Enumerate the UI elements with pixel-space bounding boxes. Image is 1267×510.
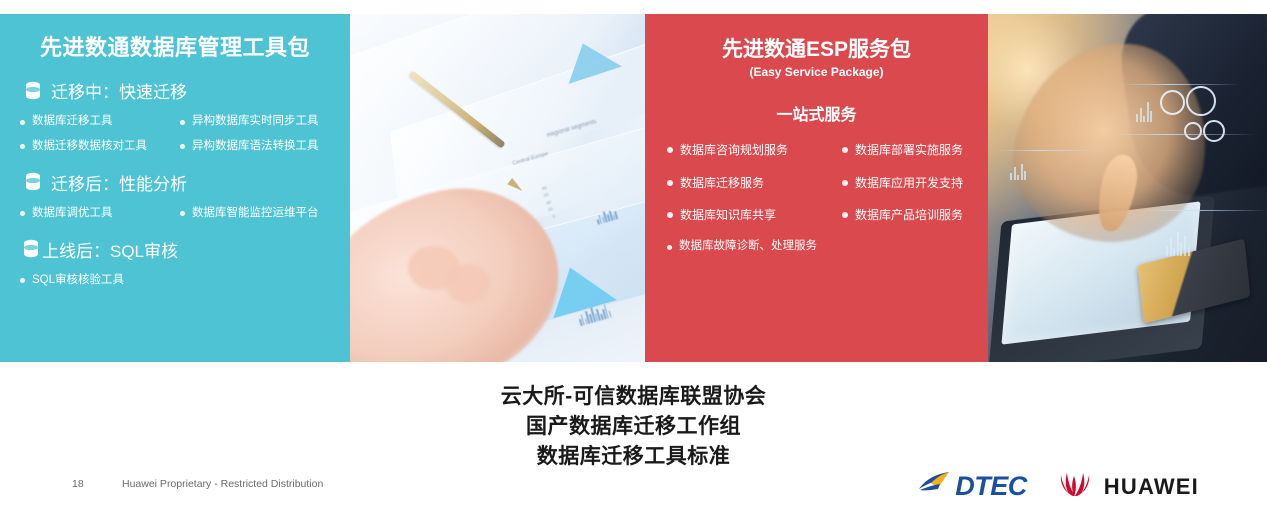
- bullet-dot-icon: [180, 211, 185, 216]
- bullet-dot-icon: [667, 180, 673, 186]
- holographic-bars: [1166, 230, 1190, 256]
- bullet-dot-icon: [20, 211, 25, 216]
- list-item-label: 异构数据库实时同步工具: [192, 115, 319, 129]
- dtec-wordmark: DTEC: [955, 471, 1027, 502]
- photo-glare: [350, 14, 645, 362]
- list-item: 数据库知识库共享: [667, 208, 842, 222]
- list-item-full: 数据库故障诊断、处理服务: [667, 240, 974, 254]
- bullet-dot-icon: [842, 180, 848, 186]
- right-panel-subtitle: (Easy Service Package): [659, 65, 974, 79]
- dtec-arrow-icon: [918, 471, 954, 502]
- center-analytics-photo: Regional segments Central Europe West Eu…: [350, 14, 645, 362]
- bullet-dot-icon: [667, 147, 673, 153]
- page-number: 18: [72, 478, 84, 490]
- huawei-wordmark: HUAWEI: [1104, 474, 1199, 500]
- dtec-logo: DTEC: [918, 471, 1027, 502]
- holographic-line: [996, 150, 1106, 151]
- bullet-dot-icon: [180, 144, 185, 149]
- bullet-dot-icon: [842, 212, 848, 218]
- list-item-label: 数据库故障诊断、处理服务: [679, 240, 817, 254]
- section-heading-text: 上线后：SQL审核: [42, 237, 178, 262]
- caption-line-1: 云大所-可信数据库联盟协会: [0, 382, 1267, 412]
- list-item-label: 数据库产品培训服务: [855, 208, 963, 222]
- right-panel-tagline: 一站式服务: [659, 101, 974, 125]
- section-heading-migration: 迁移中：快速迁移: [24, 78, 334, 103]
- list-item-label: SQL审核核验工具: [32, 274, 124, 288]
- slide-footer: 18 Huawei Proprietary - Restricted Distr…: [0, 464, 1267, 510]
- bullet-dot-icon: [20, 120, 25, 125]
- bullet-dot-icon: [180, 120, 185, 125]
- holographic-ring-icon: [1203, 120, 1225, 142]
- list-item-label: 数据库调优工具: [32, 207, 113, 221]
- bullet-dot-icon: [667, 245, 672, 250]
- list-item: 异构数据库实时同步工具: [180, 115, 334, 129]
- holographic-ring-icon: [1160, 90, 1185, 115]
- holographic-bars: [1010, 162, 1026, 180]
- banner-strip: 先进数通数据库管理工具包 迁移中：快速迁移 数据库迁移工具 异构数据库实时同步工…: [0, 14, 1267, 362]
- list-item: 数据库迁移服务: [667, 176, 842, 190]
- bullet-grid-migration: 数据库迁移工具 异构数据库实时同步工具 数据迁移数据核对工具 异构数据库语法转换…: [20, 115, 334, 154]
- list-item: 数据库咨询规划服务: [667, 143, 842, 157]
- bullet-grid-sql-audit: SQL审核核验工具: [20, 274, 334, 288]
- section-heading-sql-audit: 上线后：SQL审核: [22, 237, 334, 262]
- logo-group: DTEC HUAWEI: [918, 470, 1199, 503]
- holographic-line: [1120, 84, 1240, 85]
- bullet-dot-icon: [842, 147, 848, 153]
- section-heading-performance: 迁移后：性能分析: [24, 170, 334, 195]
- database-icon: [24, 81, 42, 101]
- service-item-grid: 数据库咨询规划服务 数据库部署实施服务 数据库迁移服务 数据库应用开发支持 数据…: [667, 143, 974, 222]
- list-item-label: 数据库应用开发支持: [855, 176, 963, 190]
- holographic-ring-icon: [1184, 122, 1202, 140]
- bullet-grid-performance: 数据库调优工具 数据库智能监控运维平台: [20, 207, 334, 221]
- list-item: 数据库部署实施服务: [842, 143, 974, 157]
- holographic-line: [1106, 134, 1256, 135]
- list-item-label: 数据库智能监控运维平台: [192, 207, 319, 221]
- list-item-label: 异构数据库语法转换工具: [192, 140, 319, 154]
- caption-block: 云大所-可信数据库联盟协会 国产数据库迁移工作组 数据库迁移工具标准: [0, 382, 1267, 471]
- holographic-line: [1138, 210, 1267, 211]
- list-item: 异构数据库语法转换工具: [180, 140, 334, 154]
- list-item-label: 数据迁移数据核对工具: [32, 140, 147, 154]
- right-tablet-photo: [988, 14, 1267, 362]
- list-item-label: 数据库知识库共享: [680, 208, 776, 222]
- holographic-bars: [1136, 100, 1152, 122]
- confidentiality-notice: Huawei Proprietary - Restricted Distribu…: [122, 478, 323, 490]
- list-item: 数据库调优工具: [20, 207, 180, 221]
- list-item: 数据库应用开发支持: [842, 176, 974, 190]
- database-icon: [24, 172, 42, 192]
- list-item: 数据库迁移工具: [20, 115, 180, 129]
- list-item: SQL审核核验工具: [20, 274, 334, 288]
- list-item-label: 数据库部署实施服务: [855, 143, 963, 157]
- list-item-label: 数据库迁移服务: [680, 176, 764, 190]
- right-service-panel: 先进数通ESP服务包 (Easy Service Package) 一站式服务 …: [645, 14, 988, 362]
- database-icon: [22, 239, 40, 259]
- holographic-ring-icon: [1186, 86, 1216, 116]
- huawei-logo: HUAWEI: [1055, 470, 1199, 503]
- list-item-label: 数据库迁移工具: [32, 115, 113, 129]
- list-item: 数据库智能监控运维平台: [180, 207, 334, 221]
- section-heading-text: 迁移中：快速迁移: [51, 78, 187, 103]
- bullet-dot-icon: [20, 278, 25, 283]
- huawei-flower-icon: [1055, 470, 1095, 503]
- list-item-label: 数据库咨询规划服务: [680, 143, 788, 157]
- list-item: 数据迁移数据核对工具: [20, 140, 180, 154]
- caption-line-2: 国产数据库迁移工作组: [0, 412, 1267, 442]
- left-product-panel: 先进数通数据库管理工具包 迁移中：快速迁移 数据库迁移工具 异构数据库实时同步工…: [0, 14, 350, 362]
- bullet-dot-icon: [667, 212, 673, 218]
- list-item: 数据库产品培训服务: [842, 208, 974, 222]
- right-panel-title: 先进数通ESP服务包: [659, 38, 974, 62]
- section-heading-text: 迁移后：性能分析: [51, 170, 187, 195]
- bullet-dot-icon: [20, 144, 25, 149]
- left-panel-title: 先进数通数据库管理工具包: [16, 36, 334, 60]
